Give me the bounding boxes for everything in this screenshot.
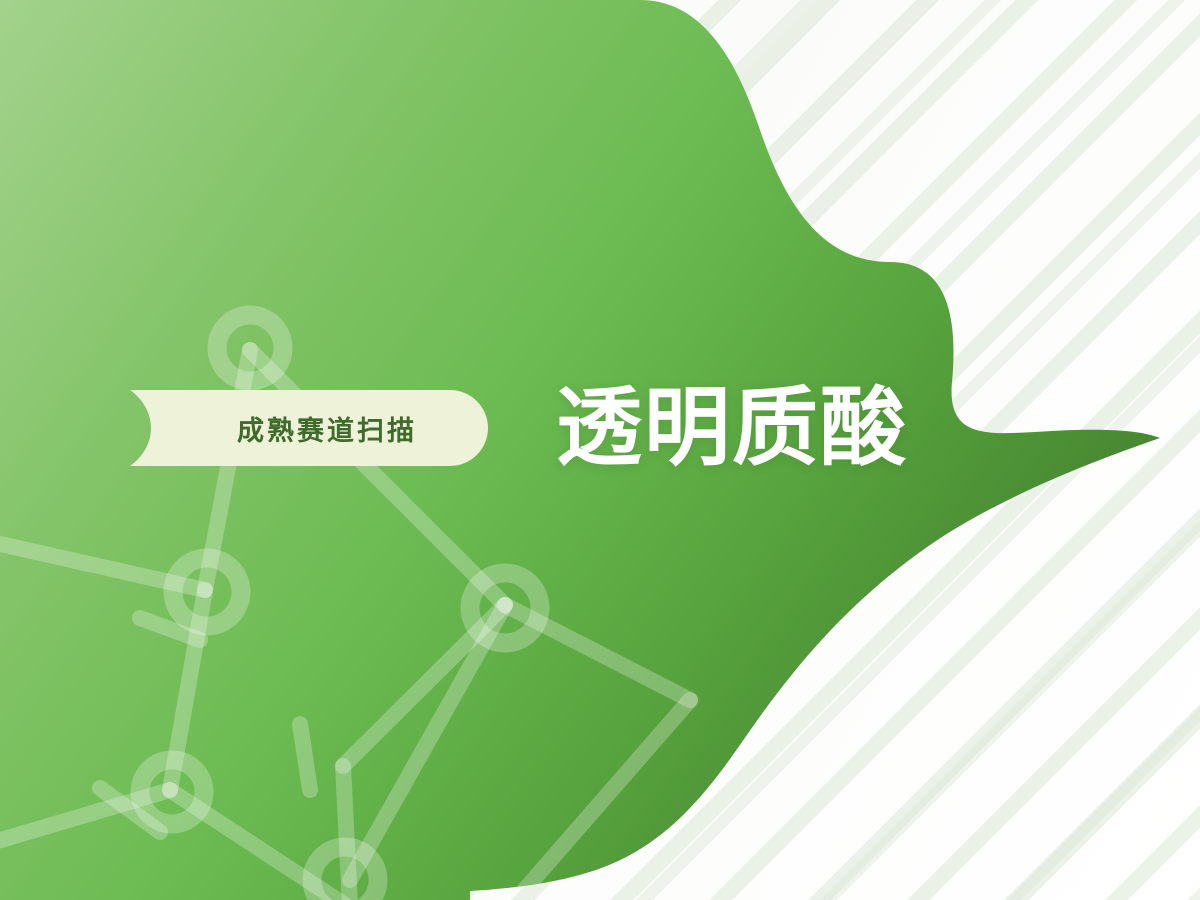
slide-content: 成熟赛道扫描 透明质酸 xyxy=(0,0,1200,900)
page-title: 透明质酸 xyxy=(556,378,908,478)
section-badge-label: 成熟赛道扫描 xyxy=(122,388,490,468)
section-badge[interactable]: 成熟赛道扫描 xyxy=(122,388,490,468)
cover-slide: 成熟赛道扫描 透明质酸 xyxy=(0,0,1200,900)
